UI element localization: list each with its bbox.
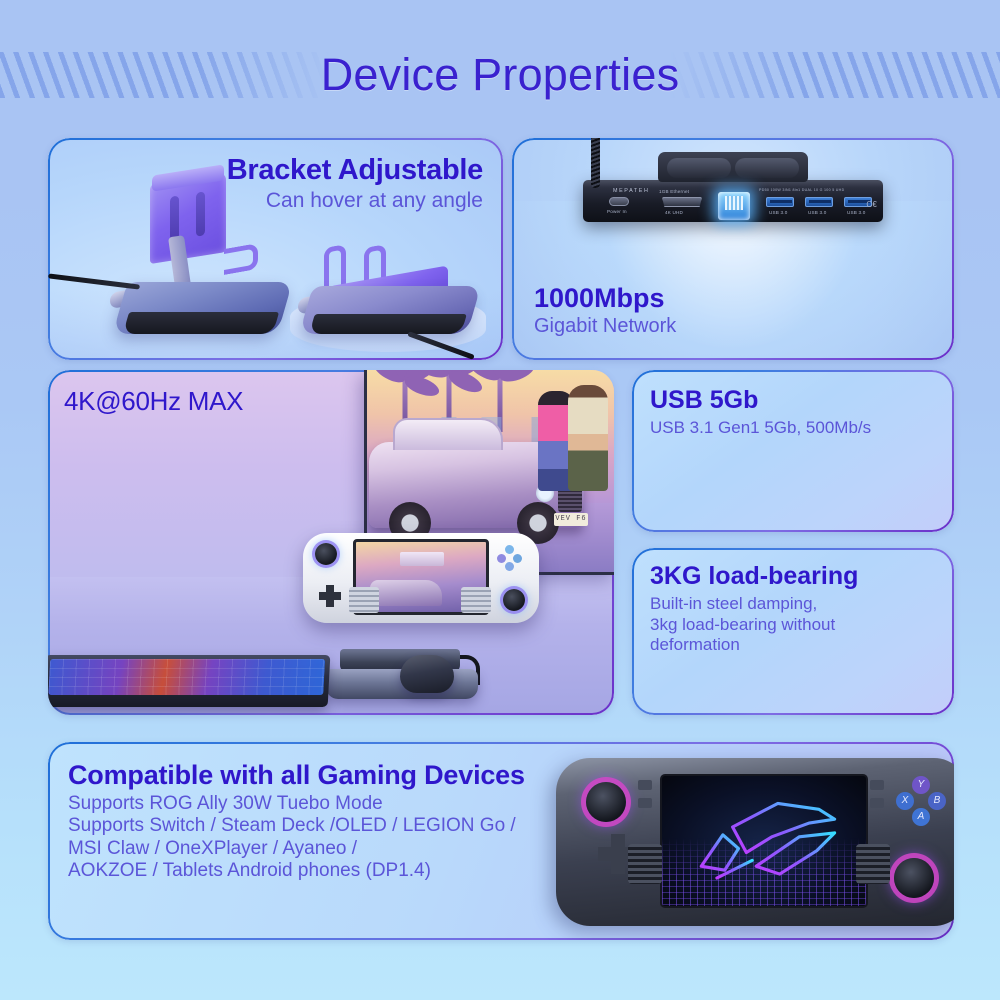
handheld-game-title-art <box>400 552 444 566</box>
dock-hinge-cylinder <box>667 158 731 178</box>
rog-ally-handheld-product: YXBA <box>556 758 954 926</box>
compat-sub-line-4: AOKZOE / Tablets Android phones (DP1.4) <box>68 860 525 882</box>
usb-3-label-2: USB 3.0 <box>808 210 827 215</box>
handheld-left-joystick <box>315 543 337 565</box>
stand-phone-hook <box>224 243 258 275</box>
display-heading: 4K@60Hz MAX <box>64 386 243 417</box>
hdmi-bottom-label: 4K UHD <box>665 210 683 215</box>
ally-armoury-crate-button <box>870 798 884 808</box>
load-text-block: 3KG load-bearing Built-in steel damping,… <box>650 562 858 656</box>
usb-3-label-3: USB 3.0 <box>847 210 866 215</box>
ally-command-center-button <box>638 798 652 808</box>
compat-text-block: Compatible with all Gaming Devices Suppo… <box>68 760 525 883</box>
network-subheading: Gigabit Network <box>534 315 676 338</box>
compat-sub-line-3: MSI Claw / OneXPlayer / Ayaneo / <box>68 838 525 860</box>
ally-screen <box>660 774 868 908</box>
ally-right-joystick <box>894 858 934 898</box>
handheld-right-joystick <box>503 589 525 611</box>
usb-3-port <box>766 197 794 207</box>
bracket-text-block: Bracket Adjustable Can hover at any angl… <box>227 154 483 213</box>
card-bracket-adjustable: Bracket Adjustable Can hover at any angl… <box>48 138 503 360</box>
car-roof <box>393 418 503 450</box>
card-usb-speed: USB 5Gb USB 3.1 Gen1 5Gb, 500Mb/s <box>632 370 954 532</box>
usb-heading: USB 5Gb <box>650 386 871 415</box>
dock-hinge-cylinder <box>735 158 799 178</box>
handheld-game-car <box>370 580 442 606</box>
stand-base-front <box>123 312 279 334</box>
hdmi-port <box>662 197 702 207</box>
network-text-block: 1000Mbps Gigabit Network <box>534 283 676 338</box>
rgb-keyboard <box>48 655 330 707</box>
usb-3-label-1: USB 3.0 <box>769 210 788 215</box>
computer-mouse <box>400 655 454 693</box>
load-sub-line-1: Built-in steel damping, <box>650 594 858 615</box>
handheld-console-product <box>303 533 539 623</box>
card-compatibility: YXBA Compatible with all Gaming Devices … <box>48 742 954 940</box>
compat-heading: Compatible with all Gaming Devices <box>68 760 525 791</box>
antenna <box>591 138 600 188</box>
ally-menu-button <box>870 780 884 790</box>
load-heading: 3KG load-bearing <box>650 562 858 591</box>
card-load-bearing: 3KG load-bearing Built-in steel damping,… <box>632 548 954 715</box>
handheld-vent <box>461 587 491 613</box>
bracket-subheading: Can hover at any angle <box>227 189 483 213</box>
keyboard-keycaps <box>48 659 325 695</box>
compat-sub-line-2: Supports Switch / Steam Deck /OLED / LEG… <box>68 815 525 837</box>
docking-station-product: MEPATEH Power In 1GB Ethernet 4K UHD PD5… <box>583 180 883 222</box>
usb-c-power-label: Power In <box>607 209 627 214</box>
card-gigabit-network: MEPATEH Power In 1GB Ethernet 4K UHD PD5… <box>512 138 954 360</box>
ally-vent <box>856 844 890 884</box>
page-header: Device Properties <box>0 0 1000 128</box>
bracket-heading: Bracket Adjustable <box>227 154 483 187</box>
stand-base-front <box>309 314 467 334</box>
ally-vent <box>628 844 662 884</box>
usb-text-block: USB 5Gb USB 3.1 Gen1 5Gb, 500Mb/s <box>650 386 871 438</box>
ally-left-joystick <box>586 782 626 822</box>
dock-brand-label: MEPATEH <box>613 188 649 194</box>
rj45-ethernet-port <box>718 192 750 220</box>
usb-c-power-port <box>609 197 629 206</box>
usb-3-port <box>805 197 833 207</box>
usb-spec-strip-label: PD50 100W 3IN1 8in1 DUAL 10 G 100 5 UHD <box>759 188 844 192</box>
compat-sub-line-1: Supports ROG Ally 30W Tuebo Mode <box>68 793 525 815</box>
rog-eye-logo-icon <box>662 776 866 907</box>
usb-subheading: USB 3.1 Gen1 5Gb, 500Mb/s <box>650 418 871 438</box>
desk-setup-scene: VEV F6 <box>48 370 614 715</box>
game-characters <box>538 383 610 491</box>
ally-face-buttons: YXBA <box>896 776 946 826</box>
ally-view-button <box>638 780 652 790</box>
handheld-dpad <box>319 585 341 607</box>
character-tan-top <box>568 385 608 491</box>
stand-backplate <box>150 172 226 264</box>
load-sub-line-2: 3kg load-bearing without <box>650 615 858 636</box>
stand-top-cap <box>152 164 224 191</box>
hdmi-top-label: 1GB Ethernet <box>659 189 689 194</box>
stand-slot <box>170 195 179 240</box>
card-4k-display: VEV F6 4K@60Hz MAX <box>48 370 614 715</box>
stand-slot <box>196 191 205 236</box>
network-heading: 1000Mbps <box>534 283 676 314</box>
ce-mark-icon: C€ <box>866 200 877 209</box>
car-license-plate: VEV F6 <box>554 513 588 526</box>
phone-stand-folded-product <box>298 216 488 346</box>
page-title: Device Properties <box>0 48 1000 102</box>
handheld-face-buttons <box>497 545 523 571</box>
load-sub-line-3: deformation <box>650 635 858 656</box>
handheld-vent <box>349 587 379 613</box>
